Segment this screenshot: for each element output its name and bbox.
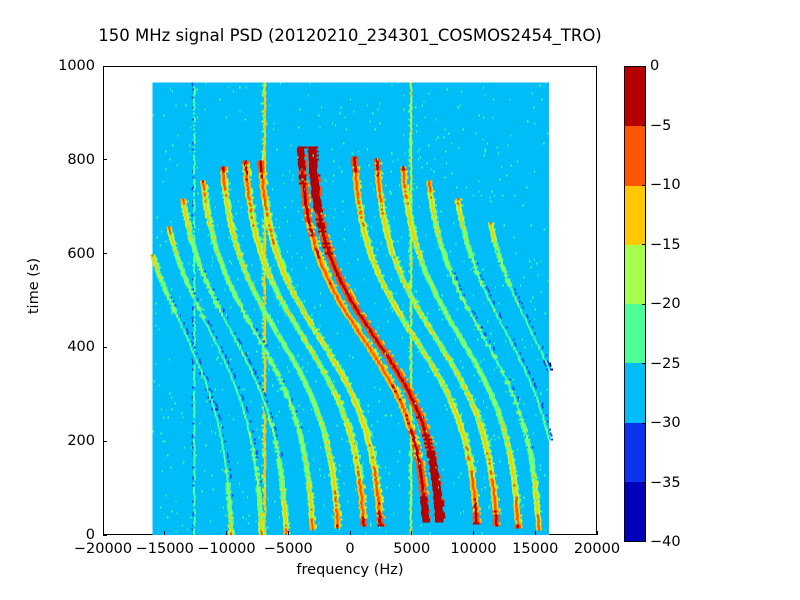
colorbar-tick-label: −30 <box>650 415 681 431</box>
colorbar-tick-mark <box>642 185 646 186</box>
y-tick-mark <box>103 66 107 67</box>
y-axis-label: time (s) <box>26 206 42 366</box>
x-tick-mark <box>164 531 165 535</box>
colorbar-band <box>625 245 645 304</box>
colorbar-tick-label: 0 <box>650 58 659 74</box>
colorbar-tick-mark <box>642 244 646 245</box>
y-tick-mark <box>103 253 107 254</box>
colorbar-tick-mark <box>642 363 646 364</box>
x-tick-mark <box>535 531 536 535</box>
x-tick-label: 5000 <box>393 541 430 557</box>
y-tick-mark <box>103 535 107 536</box>
x-tick-label: −15000 <box>136 541 194 557</box>
colorbar-tick-label: −20 <box>650 296 681 312</box>
colorbar-tick-label: −15 <box>650 237 681 253</box>
x-tick-label: 15000 <box>512 541 558 557</box>
x-tick-mark <box>288 531 289 535</box>
x-tick-mark <box>473 531 474 535</box>
colorbar-band <box>625 482 645 541</box>
colorbar-band <box>625 126 645 185</box>
x-tick-label: −5000 <box>264 541 313 557</box>
y-tick-label: 1000 <box>37 58 95 74</box>
colorbar-tick-label: −35 <box>650 475 681 491</box>
y-tick-label: 200 <box>37 433 95 449</box>
y-tick-mark <box>103 441 107 442</box>
plot-axes-frame <box>103 66 597 535</box>
colorbar-tick-mark <box>642 304 646 305</box>
x-tick-label: 10000 <box>450 541 496 557</box>
colorbar-tick-label: −40 <box>650 534 681 550</box>
colorbar-band <box>625 423 645 482</box>
colorbar-tick-mark <box>642 423 646 424</box>
colorbar-tick-label: −5 <box>650 118 671 134</box>
x-tick-label: 20000 <box>574 541 620 557</box>
colorbar-tick-label: −10 <box>650 177 681 193</box>
x-axis-label: frequency (Hz) <box>103 562 597 578</box>
y-tick-mark <box>103 159 107 160</box>
colorbar-tick-mark <box>642 482 646 483</box>
y-tick-label: 0 <box>37 527 95 543</box>
y-tick-label: 400 <box>37 339 95 355</box>
x-tick-label: 0 <box>345 541 354 557</box>
colorbar-band <box>625 304 645 363</box>
x-tick-label: −20000 <box>74 541 132 557</box>
spectrogram-figure: 150 MHz signal PSD (20120210_234301_COSM… <box>0 0 800 600</box>
x-tick-mark <box>597 531 598 535</box>
x-tick-mark <box>411 531 412 535</box>
colorbar-band <box>625 67 645 126</box>
x-tick-label: −10000 <box>197 541 255 557</box>
page-title: 150 MHz signal PSD (20120210_234301_COSM… <box>0 26 700 45</box>
y-tick-label: 800 <box>37 152 95 168</box>
x-tick-mark <box>226 531 227 535</box>
colorbar-tick-mark <box>642 125 646 126</box>
y-tick-label: 600 <box>37 246 95 262</box>
x-tick-mark <box>350 531 351 535</box>
colorbar-tick-label: −25 <box>650 356 681 372</box>
colorbar-band <box>625 363 645 422</box>
y-tick-mark <box>103 347 107 348</box>
colorbar-band <box>625 186 645 245</box>
